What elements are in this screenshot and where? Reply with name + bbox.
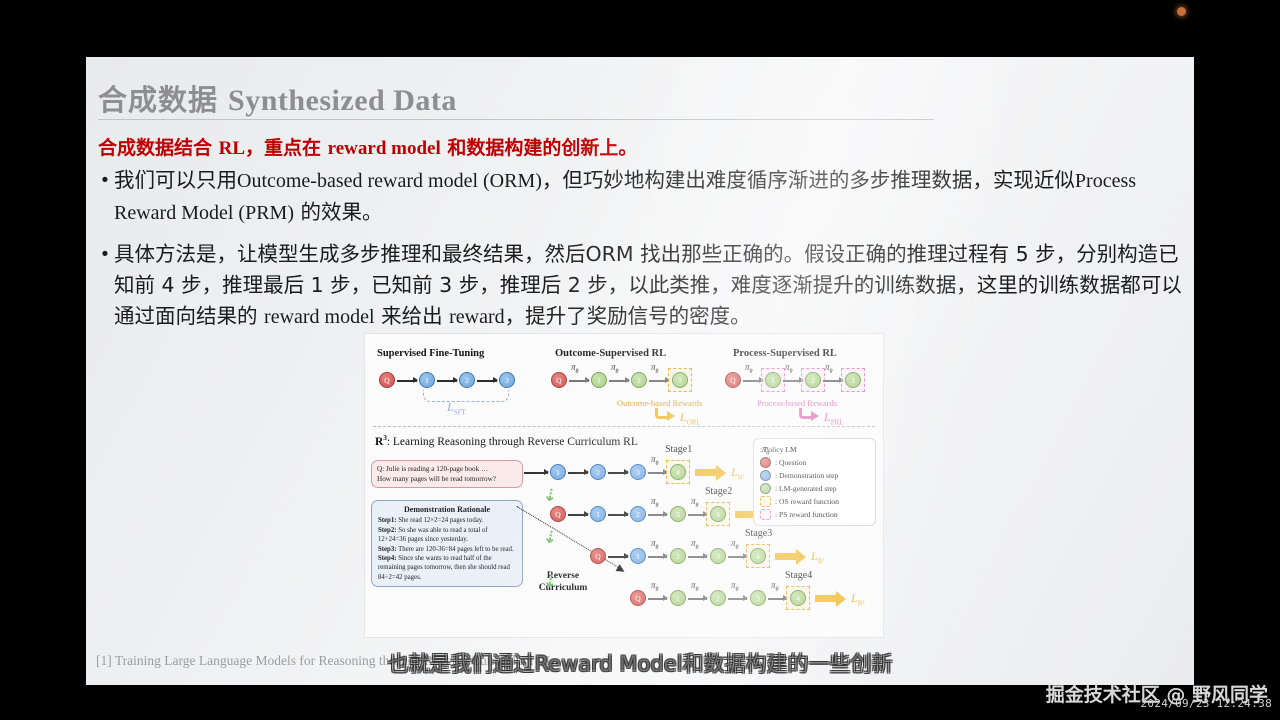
figure-heading-prl: Process-Supervised RL	[733, 348, 837, 359]
arrow	[648, 472, 667, 474]
figure-heading-orl: Outcome-Supervised RL	[555, 348, 666, 359]
b1-l1a: 我们可以只用	[114, 168, 237, 192]
legend-item-question: : Question	[760, 456, 869, 469]
b1-l1b: Outcome-based reward model (ORM)	[237, 170, 542, 192]
pi-theta-label: πθ	[785, 362, 792, 375]
node-question: Q	[725, 372, 741, 388]
arrow	[688, 514, 707, 516]
loss-r3: LR³	[811, 549, 824, 565]
arrow	[608, 514, 628, 516]
r3-heading-rest: : Learning Reasoning through Reverse Cur…	[387, 436, 638, 448]
loss-subscript: R³	[818, 557, 825, 565]
node-question: Q	[630, 590, 646, 606]
demo-step-label: Step1:	[378, 517, 397, 524]
pi-theta-label: πθ	[745, 362, 752, 375]
arrow	[743, 380, 763, 382]
arrow	[688, 556, 707, 558]
arrow	[649, 380, 669, 382]
page-title-cn: 合成数据	[98, 77, 218, 119]
pi-theta-label: πθ	[651, 496, 658, 509]
arrow	[568, 472, 588, 474]
reverse-label-line1: Reverse	[527, 570, 599, 582]
b2-l3e: ，提升了奖励信号的密度。	[505, 304, 751, 328]
bullet-marker: •	[96, 239, 114, 270]
pi-theta-label: πθ	[691, 538, 698, 551]
os-reward-icon	[760, 496, 771, 507]
pi-theta-label: πθ	[571, 362, 578, 375]
arrow	[648, 514, 667, 516]
node-generated-4: 4	[670, 464, 686, 480]
lead-statement: 合成数据结合 RL，重点在 reward model 和数据构建的创新上。	[98, 133, 637, 160]
arrow	[728, 556, 747, 558]
lead-part-4: reward model	[328, 138, 441, 159]
node-question: Q	[379, 372, 395, 388]
demo-step-label: Step2:	[378, 527, 397, 534]
presentation-slide: 合成数据 Synthesized Data 合成数据结合 RL，重点在 rewa…	[86, 57, 1194, 685]
demo-step: Step1: She read 12×2=24 pages today.	[378, 516, 516, 525]
arrow	[569, 380, 589, 382]
pi-theta-label: πθ	[651, 362, 658, 375]
node-generated-2: 2	[670, 548, 686, 564]
outcome-reward-label: Outcome-based Rewards	[617, 398, 702, 408]
pi-theta-label: πθ	[691, 580, 698, 593]
question-node-icon	[760, 457, 771, 468]
loss-subscript: ORL	[687, 418, 701, 426]
loss-symbol: L	[811, 549, 818, 563]
title-divider	[98, 119, 934, 120]
legend-item-generated-step: : LM-generated step	[760, 482, 869, 495]
record-indicator-dot	[1177, 7, 1186, 16]
loss-orl: LORL	[680, 410, 701, 426]
demo-node-icon	[760, 470, 771, 481]
lead-part-5: 和数据构建的创新上。	[441, 137, 638, 159]
node-generated-4: 4	[710, 506, 726, 522]
arrow	[783, 380, 803, 382]
legend-item-demo-step: : Demonstration step	[760, 469, 869, 482]
legend-label: : PS reward function	[775, 510, 838, 519]
recording-timestamp: 2024/09/23 12:24:38	[1140, 697, 1272, 710]
node-generated-3: 3	[670, 506, 686, 522]
list-item: • 具体方法是，让模型生成多步推理和最终结果，然后ORM 找出那些正确的。假设正…	[96, 239, 1186, 333]
node-question: Q	[550, 506, 566, 522]
node-generated-3: 3	[845, 372, 861, 388]
b1-l1c: ，但巧妙地构建出难度循序渐进的多步推理数据，实现近	[542, 168, 1055, 192]
demonstration-rationale-box: Demonstration Rationale Step1: She read …	[371, 500, 523, 587]
demo-step-label: Step3:	[378, 546, 397, 553]
legend-label: : LM-generated step	[775, 484, 837, 493]
pi-theta-label: πθ	[731, 580, 738, 593]
legend-label: : OS reward function	[775, 497, 839, 506]
b2-l3d: reward	[449, 306, 505, 328]
loss-subscript: SFT	[454, 408, 466, 416]
node-question: Q	[590, 548, 606, 564]
b2-l1: 具体方法是，让模型生成多步推理和最终结果，然后ORM 找出那些正确的。假设正确的…	[114, 242, 1076, 266]
stage-label-4: Stage4	[785, 570, 812, 581]
sft-brace	[423, 390, 509, 402]
slide-title: 合成数据 Synthesized Data	[98, 77, 1158, 119]
arrow	[688, 598, 707, 600]
pi-theta-icon: πθ	[760, 444, 771, 455]
stage-label-2: Stage2	[705, 486, 732, 497]
arrow	[768, 598, 787, 600]
loss-subscript: R³	[858, 599, 865, 607]
figure-legend: πθ : Policy LM : Question : Demonstratio…	[753, 438, 876, 526]
page-title-en: Synthesized Data	[228, 84, 457, 118]
pi-theta-label: πθ	[771, 580, 778, 593]
arrow	[608, 472, 628, 474]
arrow	[437, 380, 457, 382]
question-line-2: How many pages will be read tomorrow?	[377, 474, 517, 484]
node-demo-1: 1	[590, 506, 606, 522]
demo-step: Step3: There are 120-36=84 pages left to…	[378, 545, 516, 554]
node-generated-1: 1	[765, 372, 781, 388]
squiggle-arrow: ⇣	[541, 527, 559, 550]
demo-step-text: There are 120-36=84 pages left to be rea…	[397, 546, 514, 553]
demo-step: Step4: Since she wants to read half of t…	[378, 554, 516, 582]
legend-item-policy-lm: πθ : Policy LM	[760, 443, 869, 456]
pi-theta-label: πθ	[611, 362, 618, 375]
hook-arrow-orl	[655, 408, 668, 419]
b2-l3c: 来给出	[375, 304, 450, 328]
loss-r3: LR³	[731, 465, 744, 481]
process-reward-label: Process-based Rewards	[757, 398, 837, 408]
bullet-marker: •	[96, 165, 114, 196]
arrow	[477, 380, 497, 382]
generated-node-icon	[760, 483, 771, 494]
big-arrow	[815, 595, 837, 602]
loss-symbol: L	[731, 465, 738, 479]
question-line-1: Q: Julie is reading a 120-page book …	[377, 464, 517, 474]
bullet-text-2: 具体方法是，让模型生成多步推理和最终结果，然后ORM 找出那些正确的。假设正确的…	[114, 239, 1186, 333]
node-question: Q	[551, 372, 567, 388]
node-demo-2: 2	[459, 372, 475, 388]
node-generated-4: 4	[750, 548, 766, 564]
stage-label-1: Stage1	[665, 444, 692, 455]
arrow	[648, 556, 667, 558]
pi-theta-label: πθ	[731, 538, 738, 551]
node-generated-2: 2	[710, 590, 726, 606]
loss-subscript: R³	[738, 473, 745, 481]
pi-theta-label: πθ	[651, 538, 658, 551]
legend-label: : Demonstration step	[775, 471, 838, 480]
demo-step-text: Since she wants to read half of the rema…	[378, 555, 510, 581]
demo-step-text: She read 12×2=24 pages today.	[397, 517, 484, 524]
demo-box-title: Demonstration Rationale	[378, 505, 516, 514]
bullet-list: • 我们可以只用Outcome-based reward model (ORM)…	[96, 165, 1186, 343]
loss-subscript: PRL	[831, 418, 844, 426]
stage-label-3: Stage3	[745, 528, 772, 539]
hook-arrow-prl	[799, 408, 812, 419]
big-arrow	[695, 469, 717, 476]
paper-figure: Supervised Fine-Tuning Q 1 2 3 LSFT Outc…	[364, 333, 884, 638]
reverse-label-line2: Curriculum	[527, 582, 599, 594]
bullet-text-1: 我们可以只用Outcome-based reward model (ORM)，但…	[114, 165, 1186, 229]
figure-heading-sft: Supervised Fine-Tuning	[377, 348, 484, 359]
demo-step: Step2: So she was able to read a total o…	[378, 526, 516, 545]
arrow	[397, 380, 417, 382]
video-player-frame: 合成数据 Synthesized Data 合成数据结合 RL，重点在 rewa…	[0, 0, 1280, 720]
node-demo-1: 1	[550, 464, 566, 480]
pi-theta-label: πθ	[691, 496, 698, 509]
pi-theta-label: πθ	[651, 454, 658, 467]
node-demo-2: 2	[590, 464, 606, 480]
loss-symbol: L	[824, 410, 831, 424]
pi-theta-label: πθ	[651, 580, 658, 593]
arrow	[524, 472, 548, 474]
loss-symbol: L	[851, 591, 858, 605]
loss-r3: LR³	[851, 591, 864, 607]
lead-part-2: RL	[219, 138, 245, 159]
loss-sft: LSFT	[447, 400, 466, 416]
loss-symbol: L	[680, 410, 687, 424]
loss-symbol: L	[447, 400, 454, 414]
lead-part-3: ，重点在	[245, 137, 328, 159]
question-box: Q: Julie is reading a 120-page book … Ho…	[371, 460, 523, 488]
node-generated-1: 1	[670, 590, 686, 606]
node-generated-4: 4	[790, 590, 806, 606]
b2-l3b: reward model	[264, 306, 375, 328]
node-demo-1: 1	[419, 372, 435, 388]
legend-item-os-reward: : OS reward function	[760, 495, 869, 508]
node-generated-1: 1	[591, 372, 607, 388]
big-arrow	[775, 553, 797, 560]
node-generated-3: 3	[710, 548, 726, 564]
b1-l2c: 的效果。	[294, 200, 383, 224]
demo-step-label: Step4:	[378, 555, 397, 562]
b1-l2a: 似	[1054, 168, 1075, 192]
pi-theta-label: πθ	[825, 362, 832, 375]
node-generated-2: 2	[631, 372, 647, 388]
lead-part-1: 合成数据结合	[98, 137, 219, 159]
node-generated-2: 2	[805, 372, 821, 388]
node-demo-2: 2	[630, 506, 646, 522]
list-item: • 我们可以只用Outcome-based reward model (ORM)…	[96, 165, 1186, 229]
legend-item-ps-reward: : PS reward function	[760, 508, 869, 521]
node-demo-3: 3	[630, 464, 646, 480]
arrow	[823, 380, 843, 382]
reverse-curriculum-label: Reverse Curriculum	[527, 570, 599, 594]
burned-in-subtitle: 也就是我们通过Reward Model和数据构建的一些创新	[0, 648, 1280, 678]
ps-reward-icon	[760, 509, 771, 520]
squiggle-arrow: ⇣	[541, 485, 559, 508]
node-demo-1: 1	[630, 548, 646, 564]
figure-heading-r3: R3: Learning Reasoning through Reverse C…	[375, 434, 638, 448]
figure-divider	[373, 426, 875, 427]
loss-prl: LPRL	[824, 410, 844, 426]
arrow	[608, 556, 628, 558]
arrow	[648, 598, 667, 600]
arrow	[568, 514, 588, 516]
legend-label: : Question	[775, 458, 806, 467]
node-demo-3: 3	[499, 372, 515, 388]
arrow	[609, 380, 629, 382]
node-generated-3: 3	[750, 590, 766, 606]
node-generated-3: 3	[672, 372, 688, 388]
arrow	[728, 598, 747, 600]
